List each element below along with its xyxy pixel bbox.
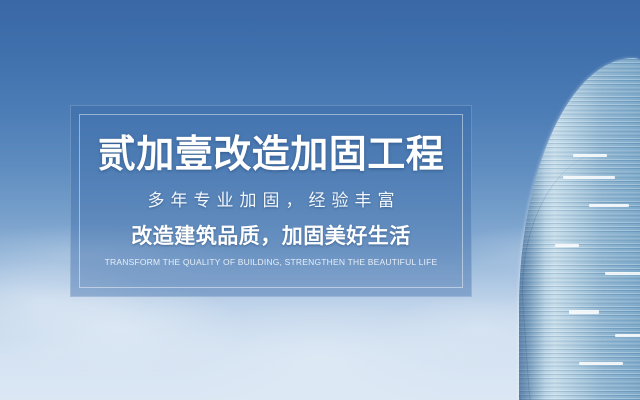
page-title: 贰加壹改造加固工程 <box>98 136 445 174</box>
text-panel: 贰加壹改造加固工程 多年专业加固，经验丰富 改造建筑品质，加固美好生活 TRAN… <box>70 105 472 297</box>
subtitle-text: 多年专业加固，经验丰富 <box>142 192 401 209</box>
hero-banner: 贰加壹改造加固工程 多年专业加固，经验丰富 改造建筑品质，加固美好生活 TRAN… <box>0 0 640 400</box>
english-tagline-text: TRANSFORM THE QUALITY OF BUILDING, STREN… <box>105 258 438 267</box>
panel-content: 贰加壹改造加固工程 多年专业加固，经验丰富 改造建筑品质，加固美好生活 TRAN… <box>71 106 471 296</box>
tagline-text: 改造建筑品质，加固美好生活 <box>131 226 411 247</box>
